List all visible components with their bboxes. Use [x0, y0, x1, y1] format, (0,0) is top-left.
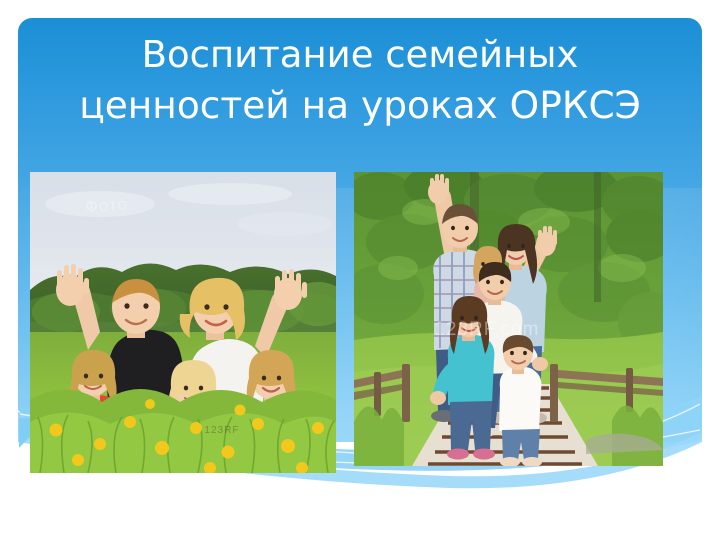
meadow-foreground — [30, 389, 336, 473]
image-family-in-meadow: Фото 123RF — [30, 172, 336, 473]
title-line-1: Воспитание семейных — [40, 30, 680, 80]
image-family-on-bridge: 123RF.com — [354, 172, 663, 466]
family-in-meadow-artwork — [30, 172, 336, 473]
title-line-2: ценностей на уроках ОРКСЭ — [40, 80, 680, 130]
family-on-bridge-artwork — [354, 172, 663, 466]
slide-canvas: Воспитание семейных ценностей на уроках … — [0, 0, 720, 540]
slide-title: Воспитание семейных ценностей на уроках … — [40, 30, 680, 130]
